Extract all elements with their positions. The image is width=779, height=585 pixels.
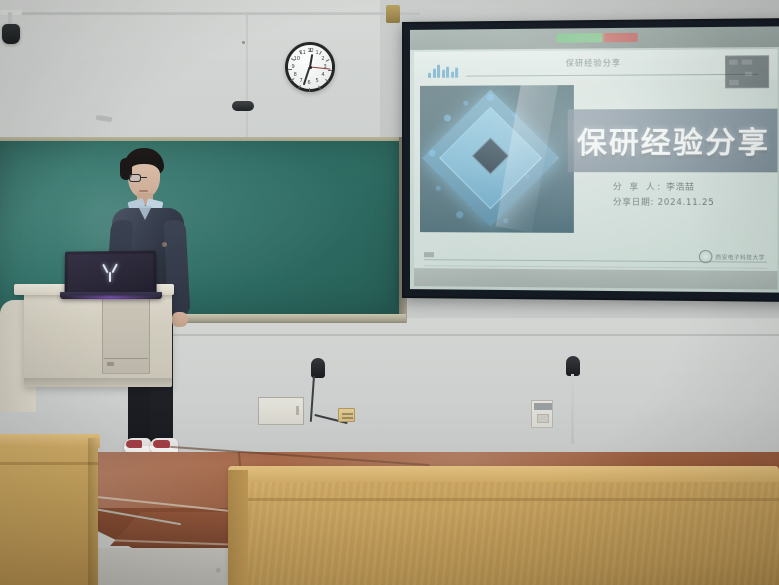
desk-left-shadow <box>88 438 100 585</box>
projected-slide: 保研经验分享 <box>410 26 779 292</box>
date-value: 2024.11.25 <box>658 198 715 208</box>
lens-right <box>129 174 141 182</box>
clock-numeral: 9 <box>292 64 295 70</box>
university-name: 西安电子科技大学 <box>715 253 765 262</box>
legion-y-logo-icon <box>102 264 118 282</box>
switch-button[interactable] <box>537 414 549 423</box>
glasses-bridge <box>141 177 147 178</box>
clock-tick <box>309 88 310 92</box>
projection-screen[interactable]: 保研经验分享 <box>402 18 779 302</box>
slide-header-title: 保研经验分享 <box>414 56 778 70</box>
clock-numeral: 8 <box>294 72 297 78</box>
clock-numeral: 7 <box>300 78 303 84</box>
clock-numeral: 11 <box>300 50 306 56</box>
presenter-mouth <box>139 190 148 192</box>
classroom-photo: 121234567891011 保研经验分享 <box>0 0 779 585</box>
switch-display <box>534 403 552 410</box>
presenter-hand-right <box>172 312 188 327</box>
electrical-box-latch <box>296 406 299 415</box>
clock-numeral: 2 <box>321 56 324 62</box>
desk-front-left-face <box>228 470 248 585</box>
slide-page-marker <box>424 252 434 257</box>
desk-front-row <box>228 470 779 585</box>
light-switch-panel[interactable] <box>531 400 553 428</box>
desk-front-top-surface <box>228 466 779 482</box>
wall-clock: 121234567891011 <box>285 42 335 92</box>
presentation-notification-bar[interactable] <box>556 33 638 43</box>
laptop[interactable] <box>65 251 157 295</box>
laptop-rgb-glow <box>62 296 160 299</box>
clock-center-pin <box>309 66 312 69</box>
desk-left-top <box>0 434 100 448</box>
clock-numeral: 1 <box>316 50 319 56</box>
slide-header-rule <box>466 74 758 77</box>
slide-bottom-strip <box>414 268 778 289</box>
camera-body <box>2 24 20 44</box>
screen-mount-bracket <box>386 5 400 23</box>
university-seal-icon <box>699 250 713 263</box>
desk-front-edge <box>228 498 779 501</box>
slide-body: 保研经验分享 <box>414 49 778 289</box>
slide-header: 保研经验分享 <box>414 49 778 82</box>
desk-left <box>0 438 98 585</box>
presenter-view-panel[interactable] <box>725 55 769 88</box>
chip-illustration <box>420 85 574 233</box>
wall-seam-horizontal <box>0 12 420 15</box>
wall-speaker-upper-icon <box>232 101 254 111</box>
wall-marking <box>242 41 245 44</box>
slide-main-title: 保研经验分享 <box>576 117 771 164</box>
projection-surface: 保研经验分享 <box>410 26 779 292</box>
presenter-label: 分 享 人: <box>613 182 663 192</box>
podium-panel-divider <box>104 358 148 359</box>
podium-control-knob[interactable] <box>107 362 114 366</box>
wall-speaker-right <box>566 356 580 376</box>
university-logo: 西安电子科技大学 <box>699 250 765 264</box>
glasses-icon <box>129 174 159 182</box>
panel-block <box>729 60 737 65</box>
speaker-pole-right <box>571 374 574 444</box>
slide-date-line: 分享日期: 2024.11.25 <box>613 196 715 212</box>
sweater-emblem <box>162 242 167 247</box>
clock-numeral: 10 <box>294 56 300 62</box>
podium-shadow <box>24 378 172 388</box>
panel-block <box>742 59 752 64</box>
panel-block <box>745 72 752 76</box>
power-outlet[interactable] <box>338 408 355 422</box>
wall-seam-vertical <box>246 12 248 148</box>
presenter-name: 李浩喆 <box>666 182 694 192</box>
clock-numeral: 12 <box>308 48 314 54</box>
slide-metadata: 分 享 人: 李浩喆 分享日期: 2024.11.25 <box>613 180 715 211</box>
slide-presenter-line: 分 享 人: 李浩喆 <box>613 180 715 195</box>
clock-numeral: 6 <box>308 80 311 86</box>
panel-block <box>729 80 738 85</box>
clock-tick <box>328 70 332 71</box>
laptop-screen <box>67 254 153 292</box>
desk-left-edge <box>0 462 98 465</box>
date-label: 分享日期: <box>613 198 654 208</box>
clock-numeral: 4 <box>321 72 324 78</box>
clock-numeral: 5 <box>316 78 319 84</box>
